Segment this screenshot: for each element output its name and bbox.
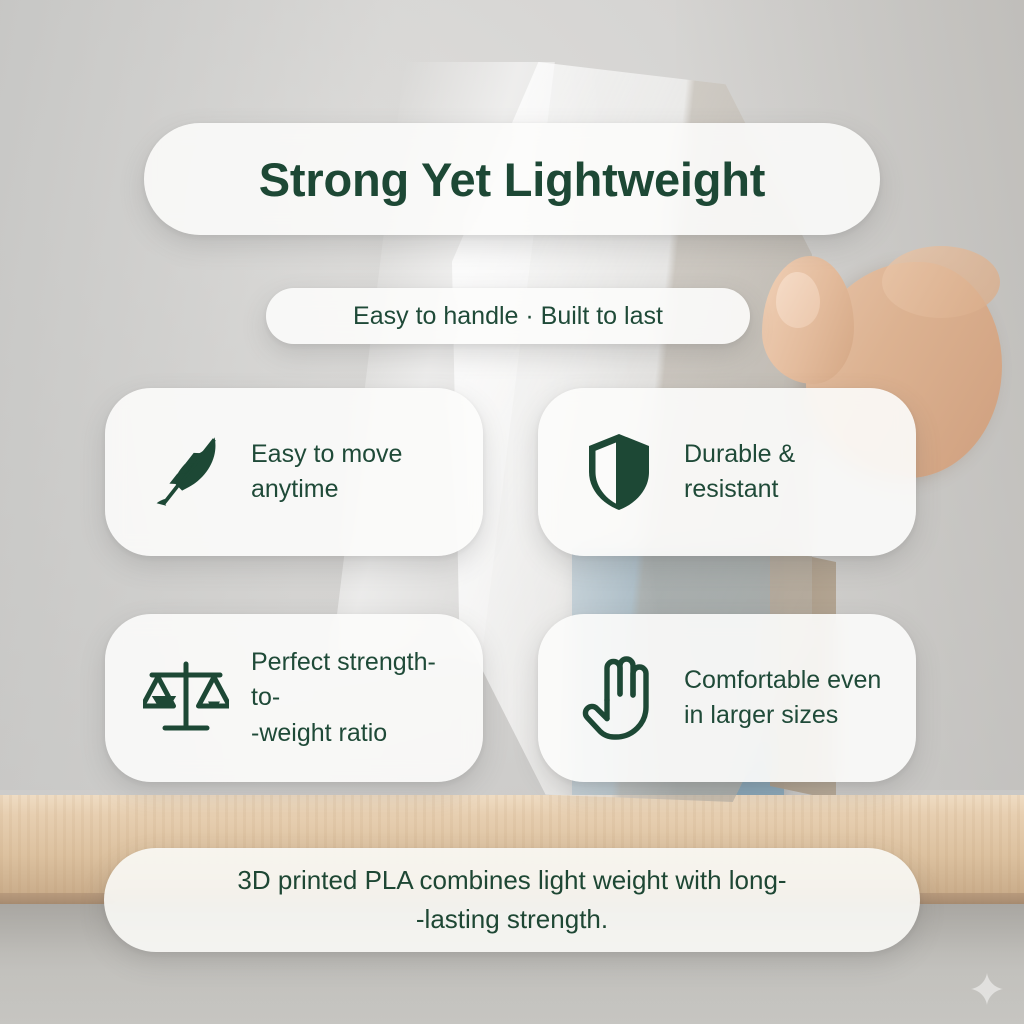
hand-thumbnail <box>776 272 820 328</box>
footer-text: 3D printed PLA combines light weight wit… <box>237 861 786 939</box>
feature-card-comfortable[interactable]: Comfortable even in larger sizes <box>538 614 916 782</box>
open-hand-icon <box>576 652 662 744</box>
feature-card-label: Comfortable even in larger sizes <box>684 663 881 734</box>
feature-label-line2: resistant <box>684 475 778 503</box>
feature-card-easy-to-move[interactable]: Easy to move anytime <box>105 388 483 556</box>
feature-label-line2: -weight ratio <box>251 719 387 747</box>
feature-card-label: Perfect strength-to- -weight ratio <box>251 645 457 752</box>
feature-label-line1: Easy to move <box>251 440 402 468</box>
feature-card-label: Durable & resistant <box>684 437 795 508</box>
footer-line2: -lasting strength. <box>416 904 608 934</box>
feather-icon <box>143 426 229 518</box>
page-title: Strong Yet Lightweight <box>259 152 766 207</box>
infographic-canvas: Strong Yet Lightweight Easy to handle · … <box>0 0 1024 1024</box>
title-banner: Strong Yet Lightweight <box>144 123 880 235</box>
subtitle-banner: Easy to handle · Built to last <box>266 288 750 344</box>
shield-icon <box>576 426 662 518</box>
page-subtitle: Easy to handle · Built to last <box>353 302 663 331</box>
feature-card-strength-to-weight[interactable]: Perfect strength-to- -weight ratio <box>105 614 483 782</box>
feature-label-line2: anytime <box>251 475 339 503</box>
footer-line1: 3D printed PLA combines light weight wit… <box>237 865 786 895</box>
feature-card-durable[interactable]: Durable & resistant <box>538 388 916 556</box>
sparkle-icon <box>970 972 1004 1006</box>
feature-label-line1: Perfect strength-to- <box>251 648 436 712</box>
feature-label-line1: Durable & <box>684 440 795 468</box>
hand-knuckles <box>882 246 1000 318</box>
feature-card-label: Easy to move anytime <box>251 437 402 508</box>
feature-label-line2: in larger sizes <box>684 701 838 729</box>
footer-banner: 3D printed PLA combines light weight wit… <box>104 848 920 952</box>
feature-label-line1: Comfortable even <box>684 666 881 694</box>
balance-scale-icon <box>143 652 229 744</box>
